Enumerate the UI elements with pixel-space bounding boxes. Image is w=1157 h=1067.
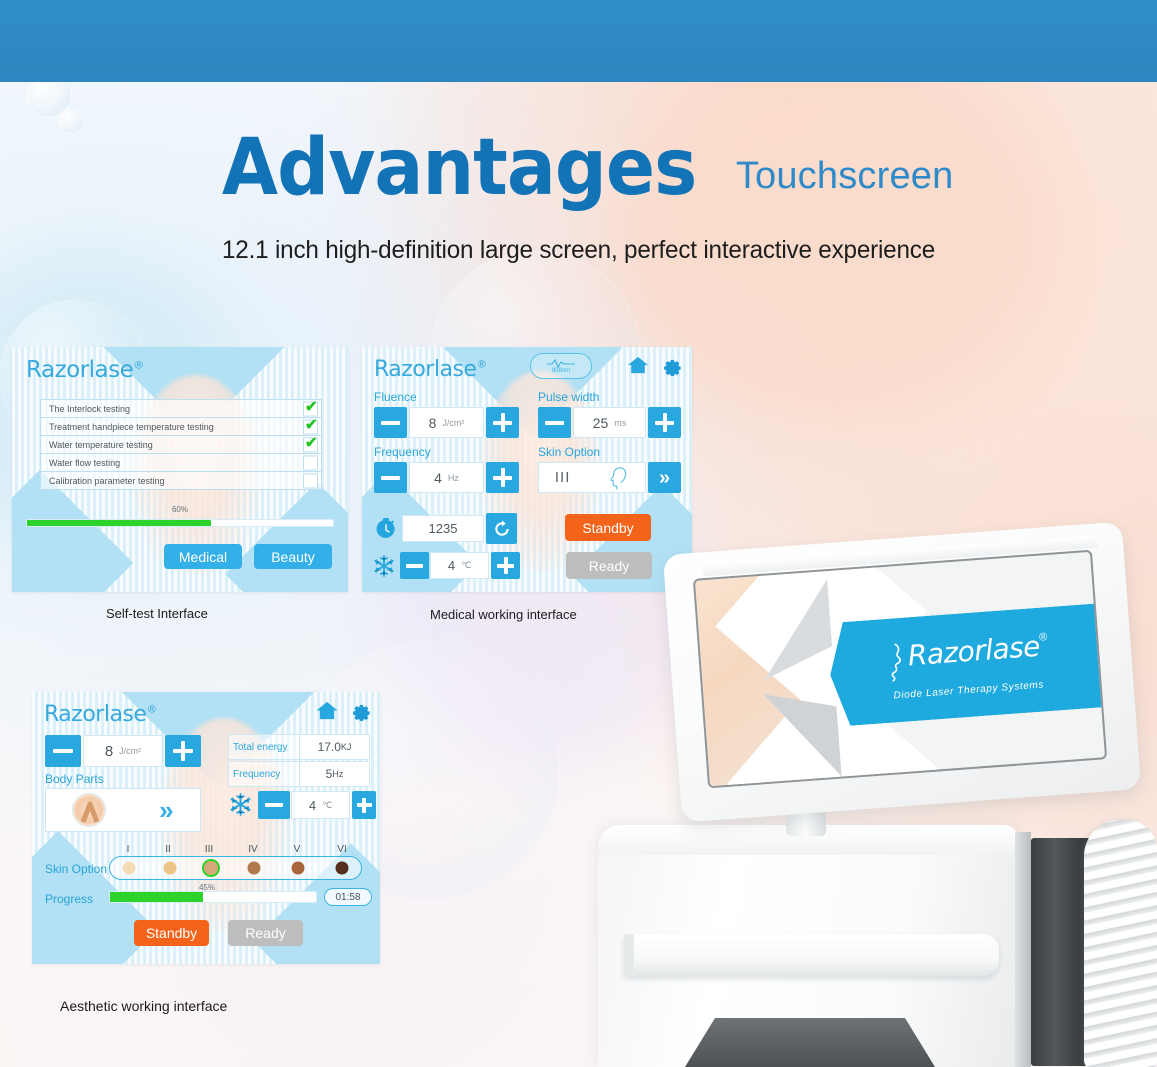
- pulse-width-label: Pulse width: [538, 390, 599, 404]
- device-handle-gap: [624, 934, 634, 976]
- wavelength-label: 808nm: [552, 368, 570, 375]
- ready-button[interactable]: Ready: [228, 920, 303, 946]
- device-side-panel: [1015, 832, 1031, 1067]
- list-item-label: Treatment handpiece temperature testing: [41, 422, 214, 432]
- total-energy-unit: KJ: [341, 742, 352, 752]
- frequency-value: 5Hz: [300, 761, 370, 787]
- total-energy-row: Total energy 17.0KJ: [228, 734, 370, 760]
- fluence-increase-button[interactable]: [486, 407, 519, 438]
- pulse-width-value: 25ms: [573, 407, 646, 438]
- list-item[interactable]: Treatment handpiece temperature testing …: [40, 417, 322, 436]
- progress-bar-fill: [110, 892, 203, 902]
- progress-bar-fill: [27, 520, 211, 526]
- snowflake-icon: [228, 792, 253, 817]
- list-item[interactable]: The Interlock testing ✔: [40, 399, 322, 418]
- frequency-label: Frequency: [228, 761, 300, 787]
- temperature-unit: ℃: [322, 800, 332, 811]
- checkbox[interactable]: ✔: [303, 401, 318, 416]
- temperature-decrease-button[interactable]: [258, 791, 290, 819]
- frequency-row: Frequency 5Hz: [228, 761, 370, 787]
- temperature-value: 4℃: [430, 552, 489, 579]
- progress-bar: [109, 891, 317, 903]
- temperature-increase-button[interactable]: [352, 791, 376, 819]
- skin-type-dot[interactable]: [164, 862, 177, 875]
- waveform-icon: [546, 358, 576, 368]
- self-test-list: The Interlock testing ✔ Treatment handpi…: [40, 399, 322, 489]
- timer-badge: 01:58: [324, 888, 372, 906]
- fluence-unit: J/cm²: [442, 418, 464, 428]
- monitor-blue-panel: Razorlase ® Diode Laser Therapy Systems: [826, 603, 1107, 727]
- page-title: Advantages: [221, 128, 696, 210]
- progress-percent-label: 60%: [12, 505, 348, 514]
- checkbox[interactable]: ✔: [303, 419, 318, 434]
- progress-bar: [26, 519, 334, 527]
- chevron-right-icon: »: [659, 468, 670, 488]
- progress-label: Progress: [45, 892, 93, 906]
- skin-type-numeral: I: [127, 844, 130, 855]
- monitor-registered-mark: ®: [1039, 631, 1048, 644]
- temperature-increase-button[interactable]: [491, 552, 520, 579]
- fluence-value: 8J/cm²: [83, 735, 163, 767]
- frequency-value: 4Hz: [409, 462, 484, 493]
- fluence-decrease-button[interactable]: [374, 407, 407, 438]
- page-title-accent: Touchscreen: [714, 155, 954, 198]
- frequency-value-text: 4: [434, 470, 442, 486]
- wavelength-badge: 808nm: [530, 353, 592, 379]
- skin-type-dot[interactable]: [336, 862, 349, 875]
- snowflake-icon: [372, 554, 396, 578]
- skin-option-label: Skin Option: [45, 862, 107, 876]
- device-dark-vent: [1031, 838, 1091, 1066]
- temperature-value-text: 4: [448, 558, 455, 573]
- device-monitor-screen[interactable]: Razorlase ® Diode Laser Therapy Systems: [693, 550, 1107, 789]
- reset-icon: [492, 519, 512, 539]
- temperature-decrease-button[interactable]: [400, 552, 429, 579]
- stopwatch-icon: [374, 517, 398, 541]
- medical-mode-button[interactable]: Medical: [164, 544, 242, 569]
- checkbox[interactable]: [303, 473, 318, 488]
- face-profile-icon: [602, 465, 629, 491]
- total-energy-label: Total energy: [228, 734, 300, 760]
- frequency-value-text: 5: [326, 767, 333, 781]
- aesthetic-working-interface-screen[interactable]: Razorlase® 8J/cm² Total energy 17.0KJ Fr…: [32, 692, 380, 964]
- brand-logo: Razorlase®: [26, 357, 144, 383]
- skin-type-numeral: III: [205, 844, 213, 855]
- total-energy-value: 17.0KJ: [300, 734, 370, 760]
- self-test-interface-screen[interactable]: Razorlase® The Interlock testing ✔ Treat…: [12, 347, 348, 592]
- caption-aesthetic: Aesthetic working interface: [60, 998, 227, 1014]
- checkbox[interactable]: [303, 455, 318, 470]
- frequency-decrease-button[interactable]: [374, 462, 407, 493]
- pulse-width-increase-button[interactable]: [648, 407, 681, 438]
- monitor-brand-text: Razorlase: [907, 629, 1041, 672]
- frequency-unit: Hz: [448, 473, 459, 483]
- gear-icon[interactable]: [661, 355, 682, 376]
- registered-mark: ®: [146, 704, 156, 716]
- skin-type-numeral: V: [294, 844, 301, 855]
- skin-option-selector[interactable]: [109, 856, 362, 880]
- skin-type-numeral: IV: [248, 844, 257, 855]
- fluence-decrease-button[interactable]: [45, 735, 81, 767]
- registered-mark: ®: [133, 358, 144, 371]
- pulse-width-decrease-button[interactable]: [538, 407, 571, 438]
- top-banner: [0, 0, 1157, 82]
- frequency-unit: Hz: [332, 769, 343, 779]
- list-item[interactable]: Water temperature testing ✔: [40, 435, 322, 454]
- list-item[interactable]: Calibration parameter testing: [40, 471, 322, 490]
- temperature-unit: ℃: [461, 560, 471, 571]
- skin-type-dot[interactable]: [123, 862, 136, 875]
- list-item[interactable]: Water flow testing: [40, 453, 322, 472]
- list-item-label: Calibration parameter testing: [41, 476, 165, 486]
- chevron-right-icon: »: [159, 797, 173, 823]
- brand-logo: Razorlase®: [44, 702, 156, 727]
- caption-medical: Medical working interface: [430, 607, 577, 622]
- device-photo: Razorlase ® Diode Laser Therapy Systems: [590, 520, 1157, 1067]
- device-cable: [1084, 820, 1157, 1067]
- fluence-value-text: 8: [105, 743, 113, 760]
- check-icon: ✔: [305, 435, 318, 450]
- body-parts-label: Body Parts: [45, 772, 104, 786]
- skin-option-value[interactable]: III: [538, 462, 646, 493]
- skin-option-next-button[interactable]: »: [648, 462, 681, 493]
- home-icon[interactable]: [315, 700, 339, 721]
- beauty-mode-button[interactable]: Beauty: [254, 544, 332, 569]
- body-parts-selector[interactable]: »: [45, 788, 201, 832]
- fluence-increase-button[interactable]: [165, 735, 201, 767]
- device-handle: [624, 934, 999, 976]
- skin-option-value-text: III: [555, 469, 571, 486]
- fluence-label: Fluence: [374, 390, 417, 404]
- body-part-icon: [72, 793, 106, 827]
- fluence-value: 8J/cm²: [409, 407, 484, 438]
- check-icon: ✔: [305, 399, 318, 414]
- list-item-label: Water temperature testing: [41, 440, 153, 450]
- fluence-value-text: 8: [429, 415, 437, 431]
- hero-heading-row: AdvantagesTouchscreen: [0, 128, 1157, 210]
- brand-logo-text: Razorlase: [26, 357, 133, 383]
- temperature-value-text: 4: [309, 798, 316, 813]
- device-front-slot: [685, 1018, 935, 1067]
- fluence-unit: J/cm²: [119, 746, 141, 756]
- brand-logo: Razorlase®: [374, 357, 486, 382]
- skin-type-numeral: II: [165, 844, 171, 855]
- counter-reset-button[interactable]: [486, 513, 517, 544]
- frequency-increase-button[interactable]: [486, 462, 519, 493]
- list-item-label: The Interlock testing: [41, 404, 130, 414]
- checkbox[interactable]: ✔: [303, 437, 318, 452]
- registered-mark: ®: [476, 359, 486, 371]
- monitor-brand-row: Razorlase ®: [883, 629, 1050, 685]
- pulse-width-value-text: 25: [593, 415, 609, 431]
- skin-type-numeral: VI: [337, 844, 346, 855]
- frequency-label: Frequency: [374, 445, 431, 459]
- counter-value: 1235: [402, 515, 484, 542]
- pulse-width-unit: ms: [614, 418, 626, 428]
- caption-self-test: Self-test Interface: [106, 606, 208, 621]
- list-item-label: Water flow testing: [41, 458, 120, 468]
- gear-icon[interactable]: [350, 700, 371, 721]
- skin-type-dot[interactable]: [292, 862, 305, 875]
- brand-logo-text: Razorlase: [44, 702, 146, 727]
- total-energy-value-text: 17.0: [318, 740, 341, 754]
- skin-option-label: Skin Option: [538, 445, 600, 459]
- skin-type-dot[interactable]: [248, 862, 261, 875]
- page-subtitle: 12.1 inch high-definition large screen, …: [17, 236, 1139, 265]
- temperature-value: 4℃: [291, 791, 350, 819]
- woman-silhouette-icon: [883, 641, 908, 684]
- skin-type-dot-selected[interactable]: [204, 861, 218, 875]
- home-icon[interactable]: [627, 355, 649, 375]
- standby-button[interactable]: Standby: [134, 920, 209, 946]
- brand-logo-text: Razorlase: [374, 357, 476, 382]
- check-icon: ✔: [305, 417, 318, 432]
